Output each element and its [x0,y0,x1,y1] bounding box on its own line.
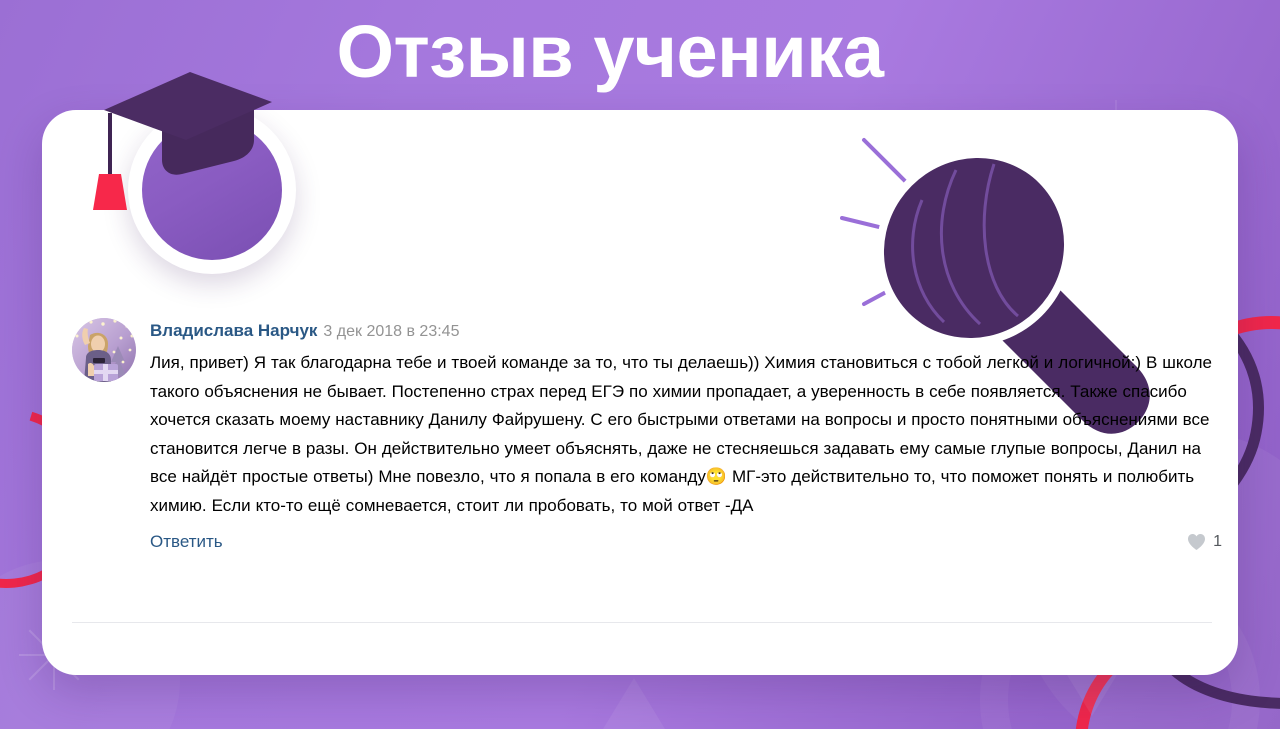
decor-triangle-3 [600,678,668,729]
reply-button[interactable]: Ответить [150,532,223,552]
comment-body: Владислава Нарчук3 дек 2018 в 23:45 Лия,… [150,318,1222,552]
review-card-graphic: Отзыв ученика [0,0,1280,729]
comment-header: Владислава Нарчук3 дек 2018 в 23:45 [150,320,1222,343]
comment-actions: Ответить 1 [150,532,1222,552]
rolling-eyes-emoji: 🙄 [706,467,727,486]
like-button[interactable]: 1 [1187,533,1222,551]
comment-timestamp: 3 дек 2018 в 23:45 [323,323,459,340]
like-count: 1 [1213,533,1222,551]
avatar-photo [72,318,136,382]
graduation-cap-icon [86,58,296,238]
comment-author-link[interactable]: Владислава Нарчук [150,321,317,340]
avatar[interactable] [72,318,136,382]
comment-divider [72,622,1212,623]
comment-row: Владислава Нарчук3 дек 2018 в 23:45 Лия,… [72,318,1222,552]
comment-text: Лия, привет) Я так благодарна тебе и тво… [150,349,1222,520]
graduation-badge [128,106,296,274]
heart-icon [1187,533,1206,551]
comment-block: Владислава Нарчук3 дек 2018 в 23:45 Лия,… [72,318,1222,552]
